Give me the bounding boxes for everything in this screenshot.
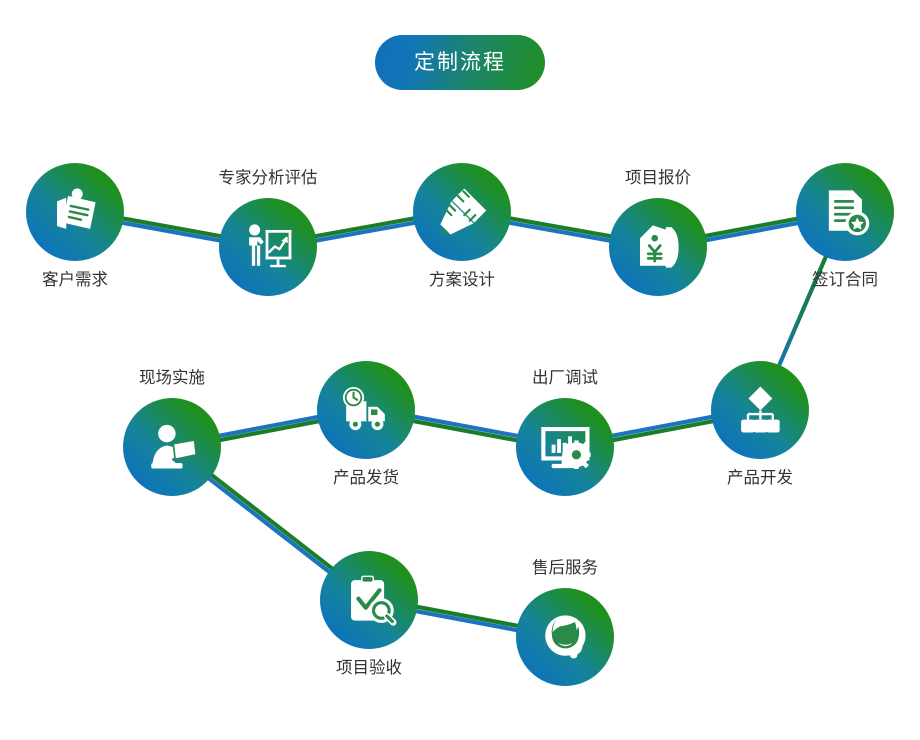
process-node-n1[interactable] <box>26 163 124 261</box>
headset-support-agent-icon <box>536 608 595 667</box>
process-node-n11[interactable] <box>516 588 614 686</box>
process-node-label: 专家分析评估 <box>178 170 358 187</box>
process-node-n2[interactable] <box>219 198 317 296</box>
monitor-gear-icon <box>536 418 595 477</box>
diagram-title-pill: 定制流程 <box>375 35 545 90</box>
process-node-n3[interactable] <box>413 163 511 261</box>
org-hierarchy-icon <box>731 381 790 440</box>
connector-n10-to-n11 <box>409 605 525 631</box>
connector-n6-to-n7 <box>605 415 720 441</box>
process-node-label: 项目报价 <box>568 170 748 187</box>
clipboard-check-search-icon <box>340 571 399 630</box>
process-node-label: 产品发货 <box>276 470 456 487</box>
connector-n7-to-n8 <box>406 415 525 441</box>
flow-diagram-canvas: 定制流程 客户需求专家分析评估方案设计项目报价签订合同产品开发出厂调试产品发货现… <box>0 0 920 740</box>
connector-n5-to-n6 <box>776 250 829 373</box>
process-node-n9[interactable] <box>123 398 221 496</box>
process-node-n8[interactable] <box>317 361 415 459</box>
process-node-n4[interactable] <box>609 198 707 296</box>
process-node-label: 现场实施 <box>82 370 262 387</box>
delivery-truck-clock-icon <box>337 381 396 440</box>
process-node-n5[interactable] <box>796 163 894 261</box>
process-node-label: 出厂调试 <box>475 370 655 387</box>
presenter-whiteboard-chart-icon <box>239 218 298 277</box>
process-node-n6[interactable] <box>711 361 809 459</box>
process-node-label: 产品开发 <box>670 470 850 487</box>
diagram-title-text: 定制流程 <box>414 52 506 73</box>
process-node-label: 项目验收 <box>279 660 459 677</box>
person-reading-document-icon <box>143 418 202 477</box>
process-node-label: 方案设计 <box>372 272 552 289</box>
process-node-label: 售后服务 <box>475 560 655 577</box>
pencil-ruler-icon <box>433 183 492 242</box>
contract-seal-icon <box>816 183 875 242</box>
price-tag-yuan-icon <box>629 218 688 277</box>
id-badge-document-icon <box>46 183 105 242</box>
process-node-label: 客户需求 <box>0 272 165 289</box>
connector-n4-to-n5 <box>698 217 805 241</box>
connector-n8-to-n9 <box>212 416 326 442</box>
process-node-label: 签订合同 <box>755 272 920 289</box>
connector-n3-to-n4 <box>502 217 618 242</box>
process-node-n7[interactable] <box>516 398 614 496</box>
connector-n2-to-n3 <box>308 217 422 242</box>
process-node-n10[interactable] <box>320 551 418 649</box>
connector-n1-to-n2 <box>115 217 228 242</box>
